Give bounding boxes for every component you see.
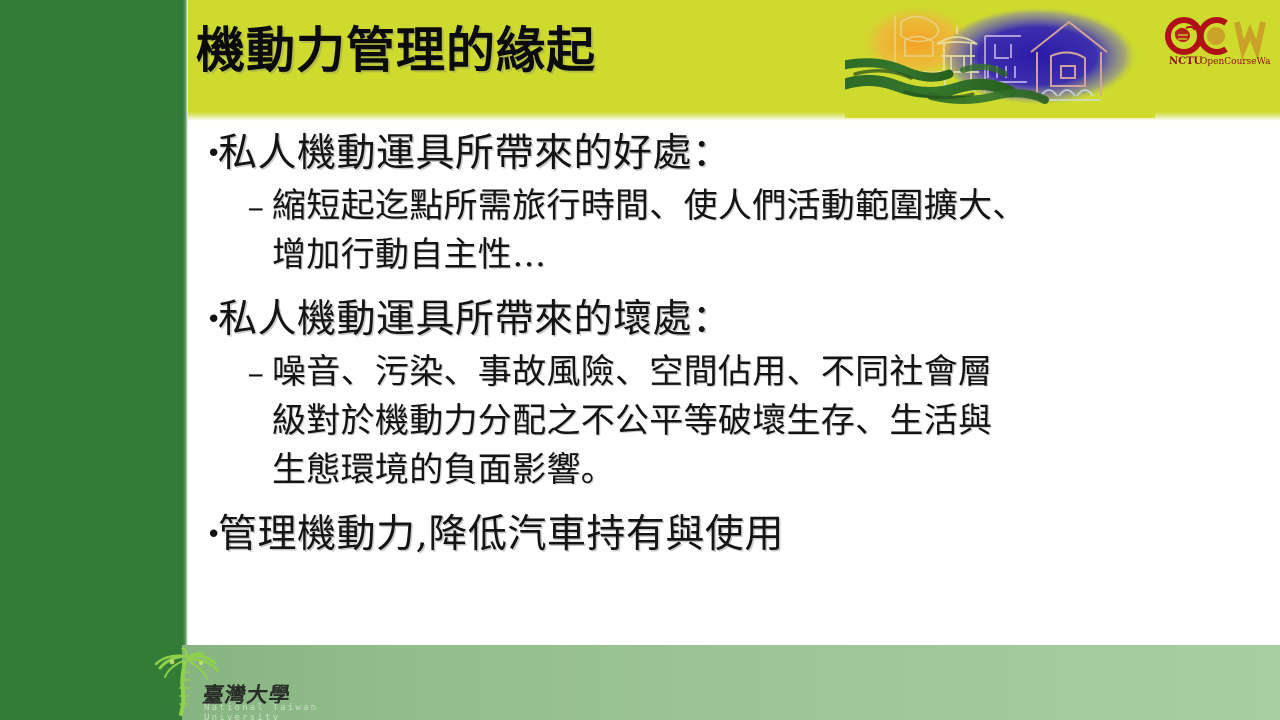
bullet-marker-dot: • (188, 128, 218, 180)
bullet-sub-line: 生態環境的負面影響。 (272, 450, 615, 490)
page-title: 機動力管理的緣起 (196, 19, 896, 81)
bullet-text: 私人機動運具所帶來的好處： (218, 128, 1280, 180)
title-band-fade (188, 112, 1280, 121)
bullet-sub-text: 噪音、污染、事故風險、空間佔用、不同社會層 級對於機動力分配之不公平等破壞生存、… (272, 348, 1087, 495)
bullet-sub-line: 噪音、污染、事故風險、空間佔用、不同社會層 (272, 352, 992, 392)
bullet-marker-dash: – (188, 182, 272, 231)
bullet-sub-text: 縮短起迄點所需旅行時間、使人們活動範圍擴大、 增加行動自主性… (272, 182, 1087, 280)
bullet-marker-dot: • (188, 509, 218, 561)
ntu-logo-english: National Taiwan University (204, 703, 376, 720)
bullet-sub-line: 縮短起迄點所需旅行時間、使人們活動範圍擴大、 (272, 186, 1027, 226)
bullet-level1: • 管理機動力,降低汽車持有與使用 (188, 509, 1280, 561)
bullet-level2: – 縮短起迄點所需旅行時間、使人們活動範圍擴大、 增加行動自主性… (188, 182, 1280, 280)
slide-body: • 私人機動運具所帶來的好處： – 縮短起迄點所需旅行時間、使人們活動範圍擴大、… (188, 128, 1280, 628)
ocw-caption-nctu: NCTU (1169, 56, 1203, 67)
bullet-marker-dot: • (188, 294, 218, 346)
bullet-level2: – 噪音、污染、事故風險、空間佔用、不同社會層 級對於機動力分配之不公平等破壞生… (188, 348, 1280, 495)
bullet-text: 私人機動運具所帶來的壞處： (218, 294, 1280, 346)
ocw-logo: NCTU OpenCourseWare (1163, 14, 1271, 72)
slide-canvas: 機動力管理的緣起 (0, 0, 1280, 720)
bullet-marker-dash: – (188, 348, 272, 397)
ntu-logo: 臺灣大學 National Taiwan University (146, 648, 376, 720)
bullet-level1: • 私人機動運具所帶來的好處： (188, 128, 1280, 180)
left-green-rail (0, 0, 182, 720)
ocw-caption-rest: OpenCourseWare (1200, 57, 1271, 67)
bullet-level1: • 私人機動運具所帶來的壞處： (188, 294, 1280, 346)
bullet-sub-line: 級對於機動力分配之不公平等破壞生存、生活與 (272, 401, 992, 441)
bullet-sub-line: 增加行動自主性… (272, 235, 546, 275)
bullet-text: 管理機動力,降低汽車持有與使用 (218, 509, 1280, 561)
